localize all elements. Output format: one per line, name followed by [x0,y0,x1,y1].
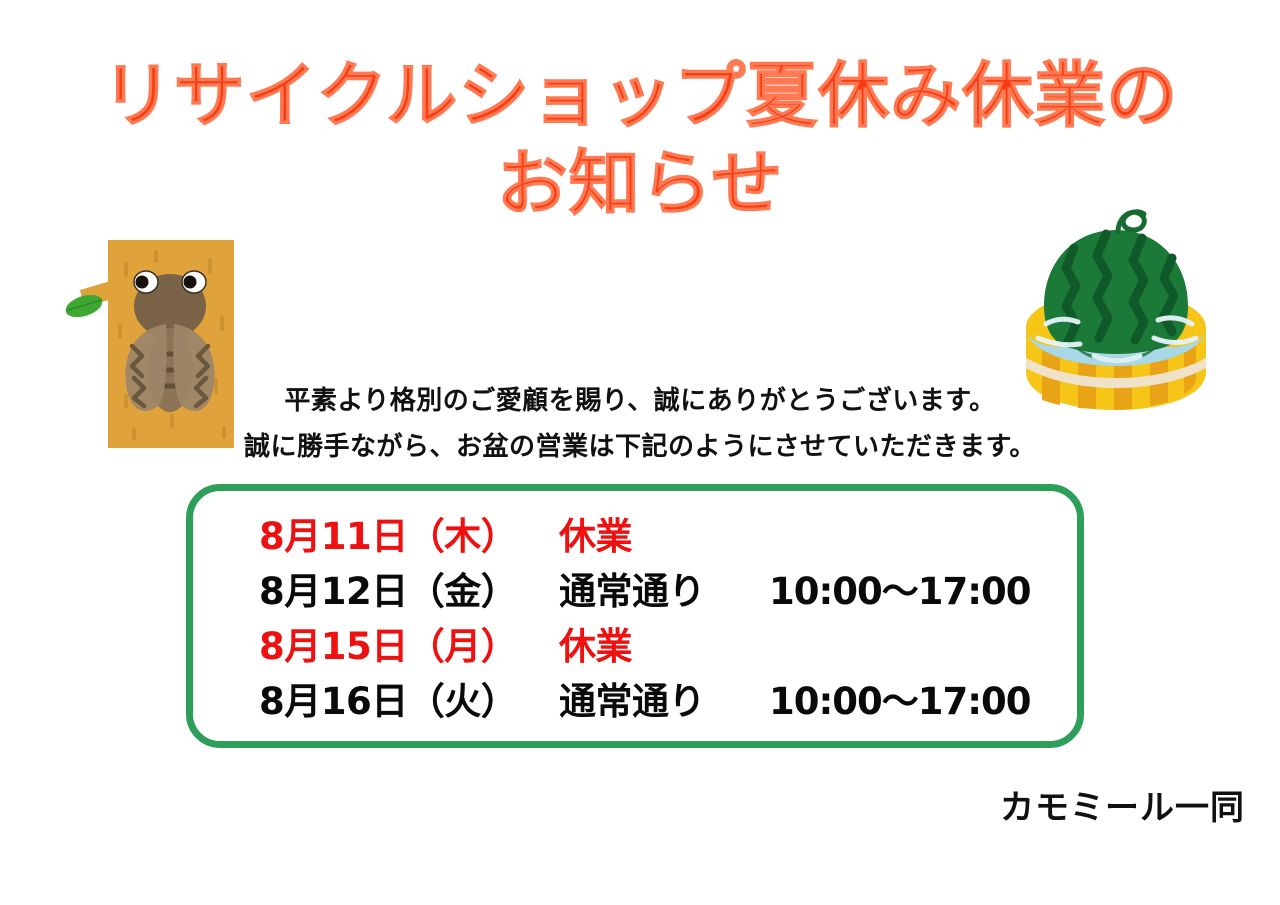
schedule-row: 8月11日（木） 休業 [259,509,1031,564]
schedule-date: 8月16日（火） [259,674,559,729]
schedule-rows: 8月11日（木） 休業 8月12日（金） 通常通り 10:00～17:00 8月… [259,509,1031,729]
schedule-row: 8月15日（月） 休業 [259,619,1031,674]
schedule-box: 8月11日（木） 休業 8月12日（金） 通常通り 10:00～17:00 8月… [186,484,1084,748]
schedule-status: 通常通り [559,564,769,619]
signature: カモミール一同 [0,786,1245,830]
body-paragraph: 平素より格別のご愛顧を賜り、誠にありがとうございます。 誠に勝手ながら、お盆の営… [0,378,1280,470]
schedule-hours: 10:00～17:00 [769,674,1031,729]
schedule-date: 8月15日（月） [259,619,559,674]
body-line-2: 誠に勝手ながら、お盆の営業は下記のようにさせていただきます。 [0,424,1280,470]
schedule-date: 8月12日（金） [259,564,559,619]
body-line-1: 平素より格別のご愛顧を賜り、誠にありがとうございます。 [0,378,1280,424]
schedule-hours: 10:00～17:00 [769,564,1031,619]
schedule-row: 8月16日（火） 通常通り 10:00～17:00 [259,674,1031,729]
schedule-status: 通常通り [559,674,769,729]
schedule-status: 休業 [559,509,769,564]
schedule-date: 8月11日（木） [259,509,559,564]
notice-page: リサイクルショップ夏休み休業の お知らせ [0,0,1280,905]
title-line-1: リサイクルショップ夏休み休業の [0,52,1280,140]
schedule-status: 休業 [559,619,769,674]
schedule-row: 8月12日（金） 通常通り 10:00～17:00 [259,564,1031,619]
